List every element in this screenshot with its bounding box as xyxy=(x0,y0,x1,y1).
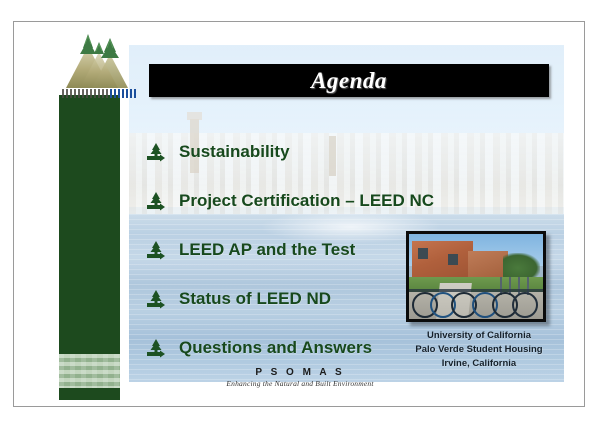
photo-caption: University of California Palo Verde Stud… xyxy=(406,329,552,370)
photo-caption-line-1: University of California xyxy=(406,329,552,343)
list-item[interactable]: Status of LEED ND xyxy=(137,274,437,323)
list-item[interactable]: Project Certification – LEED NC xyxy=(137,176,437,225)
logo-wave-icon xyxy=(110,89,136,98)
photo-caption-line-2: Palo Verde Student Housing xyxy=(406,343,552,357)
psomas-mountain-logo xyxy=(58,32,136,98)
slide-canvas: Agenda Sustainability xyxy=(129,45,564,382)
list-item[interactable]: Sustainability xyxy=(137,127,437,176)
slide-page-sheet: Agenda Sustainability xyxy=(13,21,585,407)
list-item-label: LEED AP and the Test xyxy=(179,240,355,260)
student-housing-photo xyxy=(406,231,546,322)
photo-building-primary xyxy=(412,241,474,282)
footer-tagline: Enhancing the Natural and Built Environm… xyxy=(14,379,586,388)
photo-tree xyxy=(503,253,541,279)
list-item-label: Sustainability xyxy=(179,142,290,162)
list-item[interactable]: Questions and Answers xyxy=(137,323,437,372)
mountain-tree-bullet-icon xyxy=(145,240,167,260)
list-item[interactable]: LEED AP and the Test xyxy=(137,225,437,274)
mountain-tree-bullet-icon xyxy=(145,191,167,211)
list-item-label: Status of LEED ND xyxy=(179,289,331,309)
mountain-tree-bullet-icon xyxy=(145,289,167,309)
photo-block: University of California Palo Verde Stud… xyxy=(406,231,552,370)
footer: P S O M A S Enhancing the Natural and Bu… xyxy=(14,367,586,388)
mountain-tree-bullet-icon xyxy=(145,142,167,162)
slide-title-bar: Agenda xyxy=(149,64,549,97)
page-title: Agenda xyxy=(311,68,387,94)
list-item-label: Questions and Answers xyxy=(179,338,372,358)
photo-bicycles xyxy=(409,285,543,319)
agenda-list: Sustainability Project Certification – L… xyxy=(137,127,437,372)
list-item-label: Project Certification – LEED NC xyxy=(179,191,434,211)
mountain-tree-bullet-icon xyxy=(145,338,167,358)
footer-brand: P S O M A S xyxy=(14,367,586,378)
sidebar-green-bar xyxy=(59,95,120,400)
